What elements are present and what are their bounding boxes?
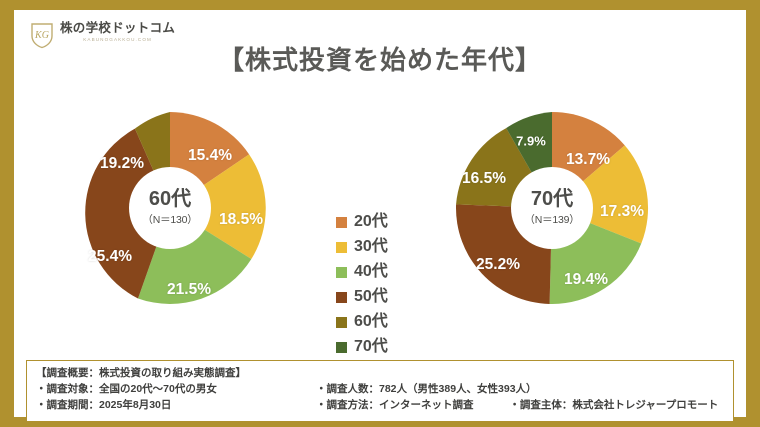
survey-count: ・調査人数：782人（男性389人、女性393人） xyxy=(316,382,724,398)
survey-method: ・調査方法：インターネット調査 xyxy=(316,398,474,414)
label-70s-70dai: 7.9% xyxy=(516,134,546,149)
page-title: 【株式投資を始めた年代】 xyxy=(14,40,746,77)
page-frame: KG 株の学校ドットコム KABUNOGAKKOU.COM 【株式投資を始めた年… xyxy=(0,0,760,427)
legend-item-50dai[interactable]: 50代 xyxy=(336,289,388,305)
chart-legend: 20代 30代 40代 50代 60代 xyxy=(336,214,388,355)
legend-swatch-50dai xyxy=(336,292,347,303)
legend-swatch-60dai xyxy=(336,317,347,328)
donut-chart-70s: 70代 （N＝139） 13.7% 17.3% 19.4% 25.2% 16.5… xyxy=(438,102,666,337)
label-70s-20dai: 13.7% xyxy=(566,151,610,169)
label-60s-50dai: 25.4% xyxy=(88,248,132,266)
legend-label-40dai: 40代 xyxy=(354,264,388,280)
label-70s-60dai: 16.5% xyxy=(462,170,506,188)
label-70s-40dai: 19.4% xyxy=(564,271,608,289)
legend-label-50dai: 50代 xyxy=(354,289,388,305)
legend-item-20dai[interactable]: 20代 xyxy=(336,214,388,230)
legend-swatch-20dai xyxy=(336,217,347,228)
legend-label-70dai: 70代 xyxy=(354,339,388,355)
legend-swatch-70dai xyxy=(336,342,347,353)
label-70s-50dai: 25.2% xyxy=(476,256,520,274)
legend-label-60dai: 60代 xyxy=(354,314,388,330)
legend-item-70dai[interactable]: 70代 xyxy=(336,339,388,355)
legend-item-30dai[interactable]: 30代 xyxy=(336,239,388,255)
label-60s-30dai: 18.5% xyxy=(219,211,263,229)
survey-overview-box: 【調査概要：株式投資の取り組み実態調査】 ・調査対象：全国の20代〜70代の男女… xyxy=(26,360,734,422)
survey-target: ・調査対象：全国の20代〜70代の男女 xyxy=(36,382,316,398)
brand-name: 株の学校ドットコム xyxy=(60,22,175,35)
donut-60s-graphic xyxy=(70,108,270,308)
slide-card: KG 株の学校ドットコム KABUNOGAKKOU.COM 【株式投資を始めた年… xyxy=(14,10,746,417)
legend-item-40dai[interactable]: 40代 xyxy=(336,264,388,280)
survey-period: ・調査期間：2025年8月30日 xyxy=(36,398,316,414)
label-60s-60dai: 19.2% xyxy=(100,155,144,173)
legend-swatch-40dai xyxy=(336,267,347,278)
charts-area: 60代 （N＝130） 15.4% 18.5% 21.5% 25.4% 19.2… xyxy=(14,102,746,342)
legend-swatch-30dai xyxy=(336,242,347,253)
survey-heading: 【調査概要：株式投資の取り組み実態調査】 xyxy=(36,366,724,382)
legend-label-20dai: 20代 xyxy=(354,214,388,230)
donut-chart-60s: 60代 （N＝130） 15.4% 18.5% 21.5% 25.4% 19.2… xyxy=(56,102,284,337)
label-60s-20dai: 15.4% xyxy=(188,147,232,165)
label-70s-30dai: 17.3% xyxy=(600,203,644,221)
label-60s-40dai: 21.5% xyxy=(167,281,211,299)
survey-owner: ・調査主体：株式会社トレジャープロモート xyxy=(509,398,718,414)
legend-item-60dai[interactable]: 60代 xyxy=(336,314,388,330)
legend-label-30dai: 30代 xyxy=(354,239,388,255)
